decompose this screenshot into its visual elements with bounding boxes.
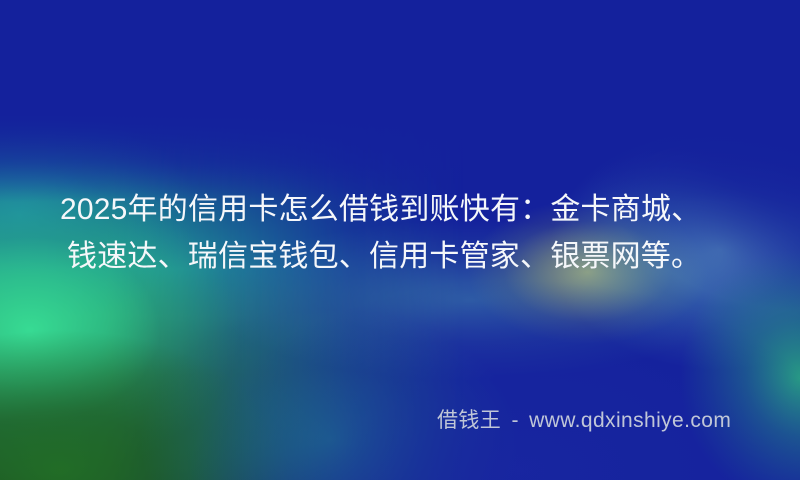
- headline-line-1: 2025年的信用卡怎么借钱到账快有：金卡商城、: [60, 186, 750, 233]
- watermark-brand: 借钱王: [437, 409, 501, 432]
- watermark: 借钱王 - www.qdxinshiye.com: [437, 408, 731, 434]
- promo-banner: 2025年的信用卡怎么借钱到账快有：金卡商城、 钱速达、瑞信宝钱包、信用卡管家、…: [0, 0, 800, 480]
- headline-block: 2025年的信用卡怎么借钱到账快有：金卡商城、 钱速达、瑞信宝钱包、信用卡管家、…: [60, 186, 750, 280]
- watermark-url: www.qdxinshiye.com: [529, 409, 731, 432]
- watermark-separator: -: [507, 409, 522, 432]
- headline-line-2: 钱速达、瑞信宝钱包、信用卡管家、银票网等。: [60, 233, 750, 280]
